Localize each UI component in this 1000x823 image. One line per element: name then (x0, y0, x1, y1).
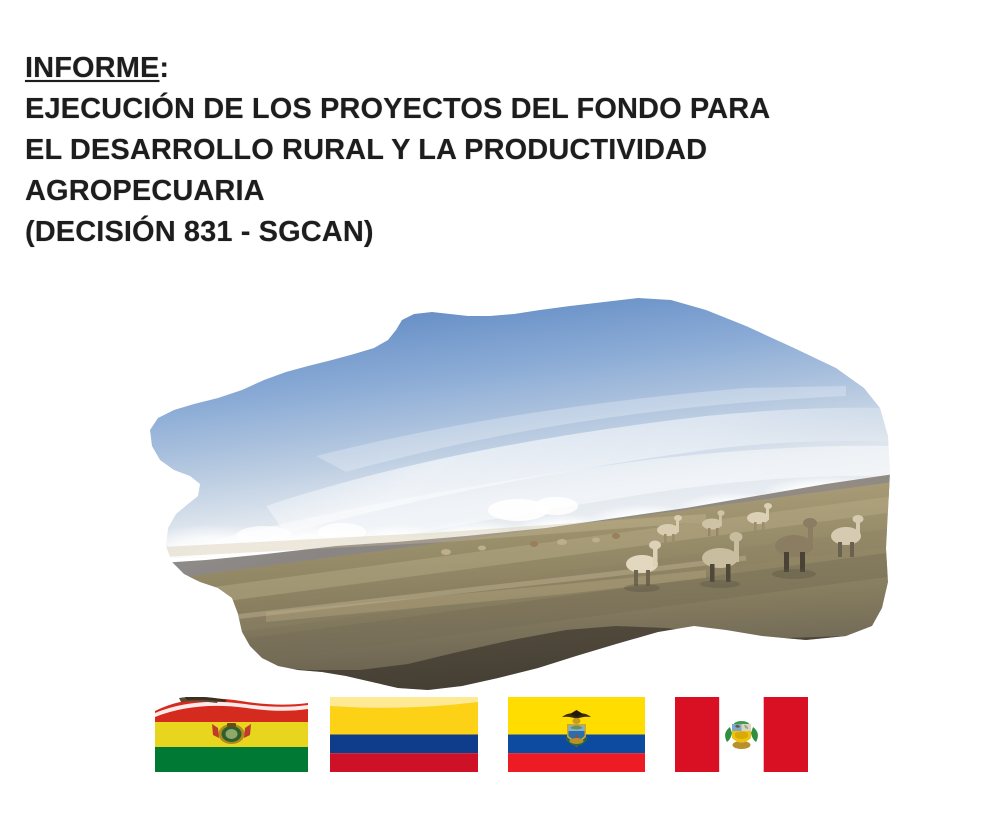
flag-bolivia (155, 697, 308, 772)
flag-peru-svg (675, 697, 808, 772)
title-line-5: (DECISIÓN 831 - SGCAN) (25, 212, 925, 253)
country-flags-row (155, 697, 845, 775)
bolivia-stripe-green (155, 747, 308, 772)
flag-bolivia-svg (155, 697, 308, 772)
flag-ecuador (508, 697, 645, 772)
title-line-1-underlined-text: INFORME (25, 52, 159, 84)
peru-band-red-left (675, 697, 719, 772)
flag-colombia (330, 697, 478, 772)
flag-peru (675, 697, 808, 772)
title-line-4: AGROPECUARIA (25, 171, 925, 212)
altiplano-landscape-image (146, 296, 894, 692)
ecuador-stripe-red (508, 753, 645, 772)
colombia-stripe-red (330, 753, 478, 772)
title-line-1: INFORME: (25, 48, 925, 89)
flag-ecuador-svg (508, 697, 645, 772)
title-line-2: EJECUCIÓN DE LOS PROYECTOS DEL FONDO PAR… (25, 89, 925, 130)
slide-root: INFORME: EJECUCIÓN DE LOS PROYECTOS DEL … (0, 0, 1000, 823)
page-title: INFORME: EJECUCIÓN DE LOS PROYECTOS DEL … (25, 48, 925, 253)
title-line-3: EL DESARROLLO RURAL Y LA PRODUCTIVIDAD (25, 130, 925, 171)
flag-colombia-svg (330, 697, 478, 772)
title-line-1-colon: : (159, 52, 169, 84)
colombia-stripe-blue (330, 735, 478, 754)
peru-band-red-right (764, 697, 808, 772)
altiplano-landscape-svg (146, 296, 894, 692)
photo-content (146, 296, 894, 692)
